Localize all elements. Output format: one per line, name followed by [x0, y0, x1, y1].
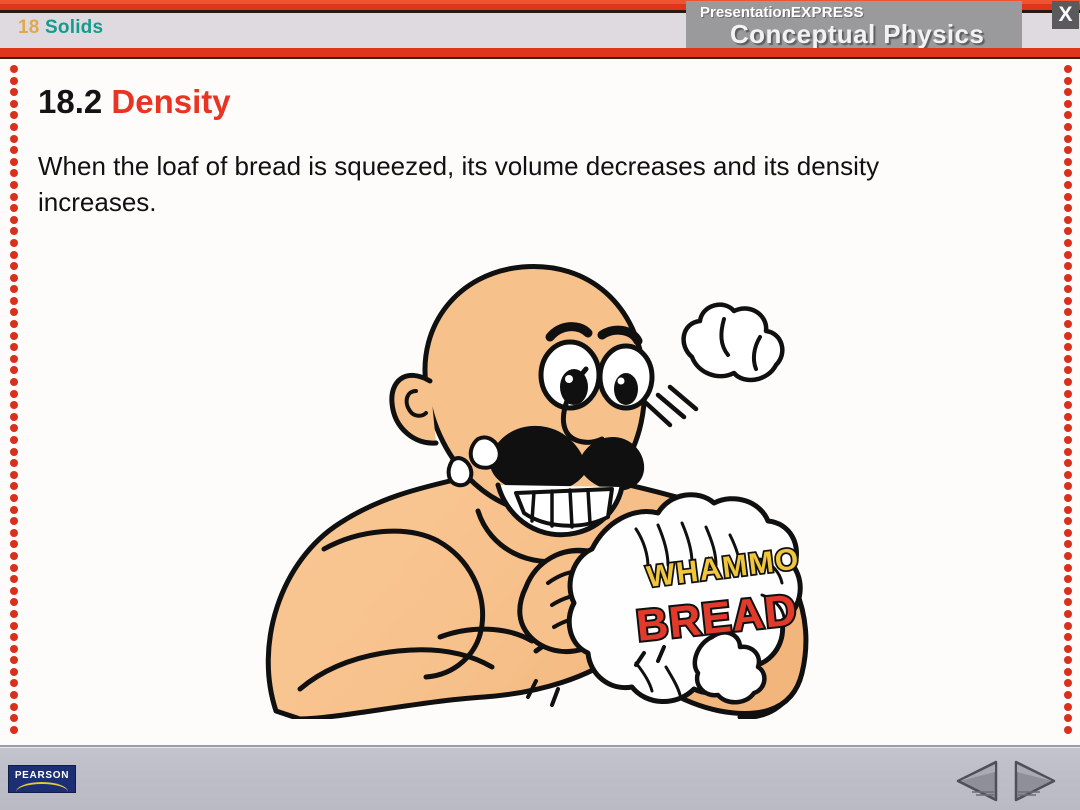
border-dot — [10, 517, 18, 525]
border-dot — [1064, 100, 1072, 108]
border-dot — [1064, 169, 1072, 177]
border-dot — [10, 529, 18, 537]
border-dot — [10, 123, 18, 131]
border-dot — [1064, 564, 1072, 572]
border-dot — [1064, 401, 1072, 409]
border-dot — [1064, 598, 1072, 606]
border-dot — [10, 111, 18, 119]
border-dot — [1064, 239, 1072, 247]
page-title: 18.2 Density — [38, 83, 231, 121]
border-dot — [1064, 227, 1072, 235]
border-dot — [1064, 494, 1072, 502]
chapter-name: Solids — [45, 17, 103, 38]
border-dot — [1064, 204, 1072, 212]
border-dot — [10, 726, 18, 734]
border-dot — [10, 691, 18, 699]
border-dot — [1064, 262, 1072, 270]
border-dot — [1064, 633, 1072, 641]
close-icon[interactable]: X — [1052, 1, 1079, 29]
border-dot — [1064, 308, 1072, 316]
triangle-left-icon — [958, 762, 996, 800]
next-slide-button[interactable] — [1010, 759, 1058, 803]
border-dot — [10, 77, 18, 85]
border-dot — [10, 227, 18, 235]
border-dot — [1064, 390, 1072, 398]
border-dot — [10, 320, 18, 328]
toolbar-highlight — [0, 747, 1080, 748]
border-dot — [10, 598, 18, 606]
border-dot — [1064, 413, 1072, 421]
border-dot — [1064, 668, 1072, 676]
border-dot — [10, 262, 18, 270]
border-dot — [10, 668, 18, 676]
border-dot — [10, 366, 18, 374]
border-dot — [10, 378, 18, 386]
slide-body-text: When the loaf of bread is squeezed, its … — [38, 149, 988, 221]
border-dot — [1064, 193, 1072, 201]
border-dot — [10, 610, 18, 618]
bread-squeeze-illustration: WHAMMO BREAD — [240, 249, 860, 719]
border-dot — [10, 65, 18, 73]
border-dot — [10, 448, 18, 456]
bottom-toolbar: PEARSON — [0, 745, 1080, 810]
border-dot — [10, 239, 18, 247]
border-dot — [1064, 332, 1072, 340]
section-title: Density — [111, 83, 230, 120]
border-dot — [1064, 726, 1072, 734]
pearson-logo-text: PEARSON — [9, 770, 75, 781]
border-dot — [1064, 506, 1072, 514]
border-dot — [10, 88, 18, 96]
section-number: 18.2 — [38, 83, 102, 120]
border-dot — [10, 679, 18, 687]
border-dot — [1064, 216, 1072, 224]
border-dot — [10, 413, 18, 421]
border-dot — [10, 575, 18, 583]
border-dot — [10, 308, 18, 316]
border-dot — [10, 135, 18, 143]
border-dot — [1064, 656, 1072, 664]
border-dot — [1064, 65, 1072, 73]
slide-border-dots-left — [10, 65, 19, 737]
product-logo-panel: PresentationEXPRESS Conceptual Physics — [686, 1, 1022, 49]
border-dot — [1064, 459, 1072, 467]
slide-canvas: 18.2 Density When the loaf of bread is s… — [0, 59, 1080, 745]
border-dot — [10, 332, 18, 340]
border-dot — [10, 146, 18, 154]
border-dot — [10, 714, 18, 722]
border-dot — [10, 100, 18, 108]
border-dot — [1064, 135, 1072, 143]
border-dot — [10, 251, 18, 259]
border-dot — [1064, 575, 1072, 583]
border-dot — [10, 436, 18, 444]
border-dot — [10, 355, 18, 363]
border-dot — [1064, 517, 1072, 525]
border-dot — [10, 459, 18, 467]
pearson-swoosh-icon — [16, 782, 68, 792]
border-dot — [10, 285, 18, 293]
border-dot — [10, 540, 18, 548]
border-dot — [1064, 645, 1072, 653]
border-dot — [10, 193, 18, 201]
border-dot — [10, 552, 18, 560]
border-dot — [1064, 123, 1072, 131]
border-dot — [1064, 251, 1072, 259]
border-dot — [1064, 146, 1072, 154]
pearson-logo: PEARSON — [8, 765, 76, 793]
border-dot — [1064, 274, 1072, 282]
border-dot — [1064, 285, 1072, 293]
border-dot — [1064, 448, 1072, 456]
border-dot — [10, 390, 18, 398]
border-dot — [1064, 366, 1072, 374]
slide-border-dots-right — [1064, 65, 1073, 737]
border-dot — [10, 494, 18, 502]
border-dot — [10, 645, 18, 653]
border-dot — [10, 343, 18, 351]
slide-navigation — [954, 759, 1062, 803]
border-dot — [1064, 714, 1072, 722]
border-dot — [1064, 297, 1072, 305]
border-dot — [1064, 691, 1072, 699]
border-dot — [10, 158, 18, 166]
border-dot — [10, 204, 18, 212]
border-dot — [1064, 436, 1072, 444]
triangle-right-icon — [1016, 762, 1054, 800]
border-dot — [1064, 482, 1072, 490]
border-dot — [1064, 355, 1072, 363]
border-dot — [1064, 181, 1072, 189]
border-dot — [1064, 343, 1072, 351]
border-dot — [10, 633, 18, 641]
border-dot — [1064, 587, 1072, 595]
border-dot — [10, 216, 18, 224]
border-dot — [1064, 622, 1072, 630]
border-dot — [10, 656, 18, 664]
border-dot — [1064, 471, 1072, 479]
border-dot — [1064, 529, 1072, 537]
border-dot — [1064, 378, 1072, 386]
border-dot — [10, 482, 18, 490]
border-dot — [10, 297, 18, 305]
border-dot — [10, 181, 18, 189]
border-dot — [10, 703, 18, 711]
logo-product-title: Conceptual Physics — [730, 19, 984, 50]
border-dot — [10, 401, 18, 409]
border-dot — [1064, 424, 1072, 432]
border-dot — [1064, 111, 1072, 119]
border-dot — [10, 587, 18, 595]
border-dot — [1064, 552, 1072, 560]
border-dot — [10, 622, 18, 630]
border-dot — [1064, 320, 1072, 328]
presentation-window: 18 Solids PresentationEXPRESS Conceptual… — [0, 0, 1080, 810]
border-dot — [10, 424, 18, 432]
chapter-number: 18 — [18, 17, 40, 38]
chapter-breadcrumb: 18 Solids — [18, 17, 103, 39]
border-dot — [10, 564, 18, 572]
border-dot — [1064, 158, 1072, 166]
border-dot — [10, 169, 18, 177]
border-dot — [10, 471, 18, 479]
border-dot — [1064, 88, 1072, 96]
border-dot — [10, 506, 18, 514]
border-dot — [1064, 540, 1072, 548]
border-dot — [1064, 703, 1072, 711]
border-dot — [1064, 77, 1072, 85]
border-dot — [1064, 610, 1072, 618]
previous-slide-button[interactable] — [954, 759, 1002, 803]
border-dot — [10, 274, 18, 282]
border-dot — [1064, 679, 1072, 687]
